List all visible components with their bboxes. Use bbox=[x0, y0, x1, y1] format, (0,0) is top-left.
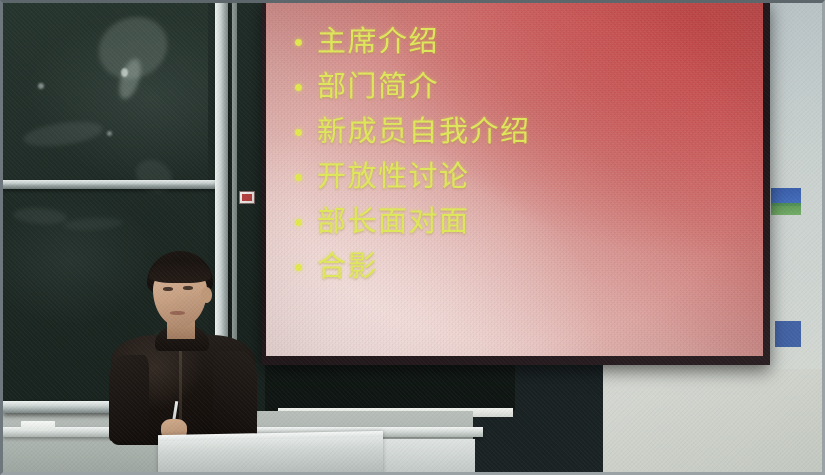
chalk-smudge bbox=[38, 83, 44, 89]
chalk-smudge bbox=[107, 131, 112, 136]
presenter-arm-right bbox=[213, 351, 257, 441]
lectern-surface-right bbox=[379, 439, 475, 472]
chalk-smudge bbox=[13, 206, 68, 226]
slide-bullet-item: 合影 bbox=[295, 244, 755, 288]
slide-bullet-item: 部门简介 bbox=[295, 64, 755, 108]
chalk-smudge bbox=[22, 118, 104, 151]
photo-content: 主席介绍 部门简介 新成员自我介绍 开放性讨论 部长面对面 合影 bbox=[3, 3, 822, 472]
photograph: 主席介绍 部门简介 新成员自我介绍 开放性讨论 部长面对面 合影 bbox=[0, 0, 825, 475]
slide-bullet-text: 新成员自我介绍 bbox=[317, 116, 531, 146]
chalk-eraser bbox=[21, 421, 55, 431]
slide-bullet-text: 开放性讨论 bbox=[317, 161, 470, 191]
poster-band-blue-lower bbox=[775, 321, 801, 347]
chalk-smudge bbox=[121, 68, 128, 77]
bullet-dot-icon bbox=[295, 219, 302, 226]
bullet-dot-icon bbox=[295, 264, 302, 271]
chalk-smudge bbox=[130, 154, 178, 199]
presenter-figure bbox=[95, 251, 263, 441]
slide-bullet-text: 合影 bbox=[317, 251, 378, 281]
presenter-ear bbox=[201, 287, 212, 303]
chalk-smudge bbox=[63, 216, 124, 231]
presenter-mouth bbox=[170, 311, 185, 315]
slide-bullet-item: 主席介绍 bbox=[295, 19, 755, 63]
presenter-arm-left bbox=[109, 355, 149, 441]
presenter-eye-left bbox=[163, 287, 173, 291]
blackboard-rail-horizontal bbox=[3, 180, 215, 189]
poster-band-green bbox=[771, 203, 801, 215]
bullet-dot-icon bbox=[295, 39, 302, 46]
slide-bullet-text: 部长面对面 bbox=[317, 206, 470, 236]
bullet-dot-icon bbox=[295, 174, 302, 181]
bullet-dot-icon bbox=[295, 84, 302, 91]
slide-bullet-item: 新成员自我介绍 bbox=[295, 109, 755, 153]
slide-bullet-list: 主席介绍 部门简介 新成员自我介绍 开放性讨论 部长面对面 合影 bbox=[295, 19, 755, 289]
red-sticker-label bbox=[239, 191, 255, 204]
slide-bullet-text: 主席介绍 bbox=[317, 26, 439, 56]
bullet-dot-icon bbox=[295, 129, 302, 136]
wall-panel-far-right bbox=[769, 3, 822, 369]
presenter-eye-right bbox=[183, 286, 193, 290]
slide-bullet-item: 部长面对面 bbox=[295, 199, 755, 243]
slide-bullet-item: 开放性讨论 bbox=[295, 154, 755, 198]
slide-bullet-text: 部门简介 bbox=[317, 71, 439, 101]
